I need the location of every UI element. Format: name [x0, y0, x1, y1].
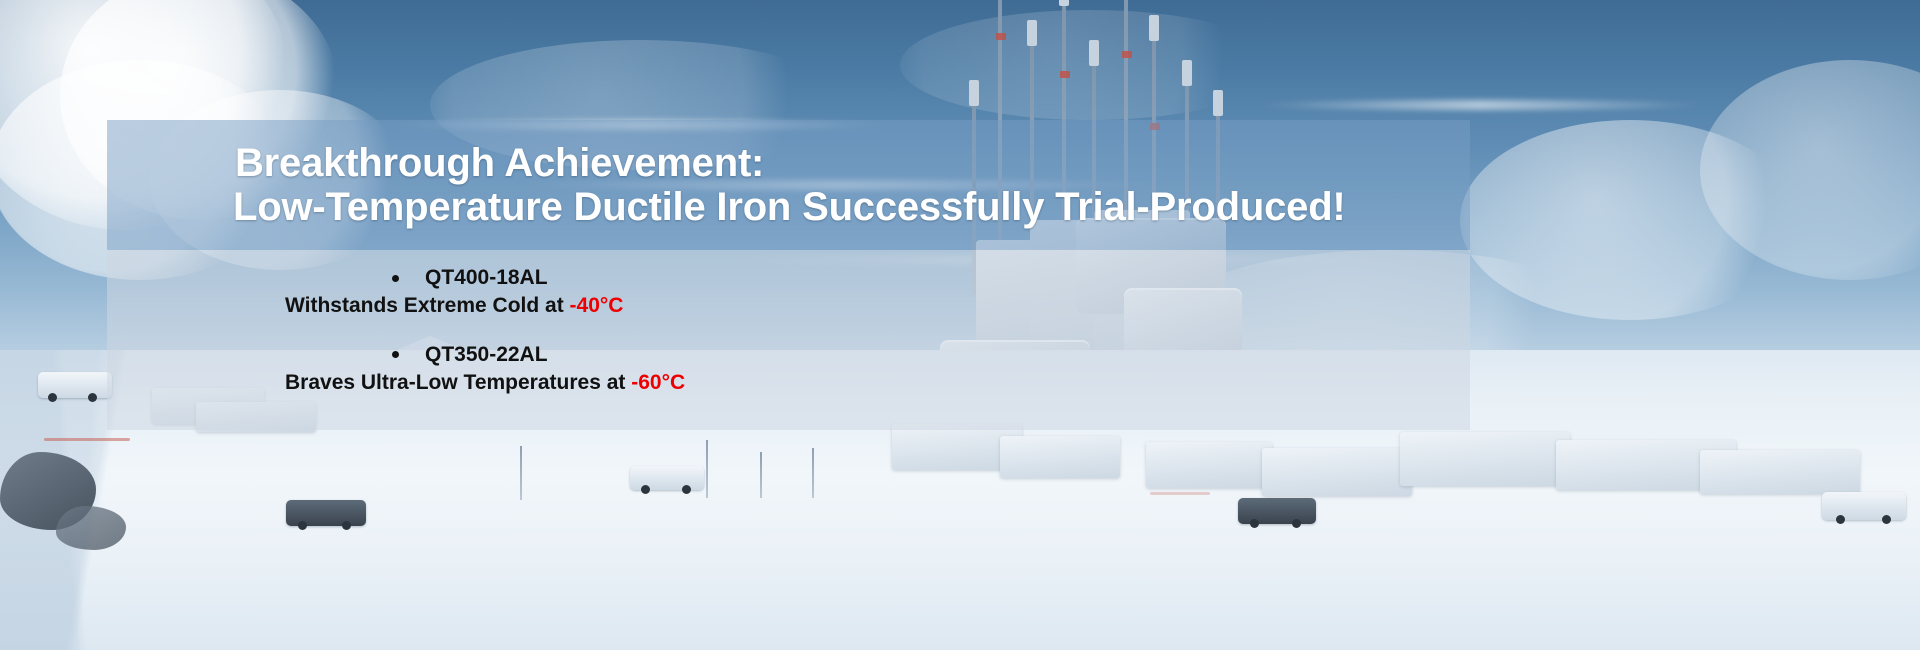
car-vehicle — [1238, 498, 1316, 524]
suv-vehicle — [630, 466, 704, 490]
feature-item: QT350-22AL Braves Ultra-Low Temperatures… — [107, 341, 1470, 398]
utility-pole — [812, 448, 814, 498]
station-building — [1700, 450, 1860, 494]
station-building — [1262, 448, 1412, 496]
feature-grade-label: QT400-18AL — [425, 264, 548, 292]
headline-line-2: Low-Temperature Ductile Iron Successfull… — [233, 185, 1470, 229]
utility-pole — [706, 440, 708, 498]
headline-band: Breakthrough Achievement: Low-Temperatur… — [107, 120, 1470, 250]
station-building — [1400, 432, 1570, 486]
promo-banner: Breakthrough Achievement: Low-Temperatur… — [0, 0, 1920, 650]
features-band: QT400-18AL Withstands Extreme Cold at -4… — [107, 250, 1470, 430]
bullet-dot-icon — [392, 351, 399, 358]
feature-grade-row: QT350-22AL — [107, 341, 1470, 369]
feature-grade-label: QT350-22AL — [425, 341, 548, 369]
utility-pole — [520, 446, 522, 500]
foreground-rock — [56, 506, 126, 550]
feature-temperature-value: -40°C — [570, 294, 624, 317]
content-overlay-panel: Breakthrough Achievement: Low-Temperatur… — [107, 120, 1470, 430]
feature-grade-row: QT400-18AL — [107, 264, 1470, 292]
car-vehicle — [286, 500, 366, 526]
feature-description-text: Withstands Extreme Cold at — [285, 294, 570, 317]
station-building — [1146, 442, 1272, 488]
ground-marking — [1150, 492, 1210, 495]
feature-temperature-value: -60°C — [631, 371, 685, 394]
feature-description: Withstands Extreme Cold at -40°C — [107, 292, 1470, 320]
utility-pole — [760, 452, 762, 498]
ground-marking — [44, 438, 130, 441]
feature-description: Braves Ultra-Low Temperatures at -60°C — [107, 369, 1470, 397]
bullet-dot-icon — [392, 275, 399, 282]
snow-vehicle — [38, 372, 112, 398]
feature-description-text: Braves Ultra-Low Temperatures at — [285, 371, 631, 394]
headline-line-1: Breakthrough Achievement: — [235, 141, 1470, 185]
truck-vehicle — [1822, 492, 1906, 520]
feature-item: QT400-18AL Withstands Extreme Cold at -4… — [107, 264, 1470, 321]
station-building — [1000, 436, 1120, 478]
cirrus-streak — [1250, 100, 1710, 110]
